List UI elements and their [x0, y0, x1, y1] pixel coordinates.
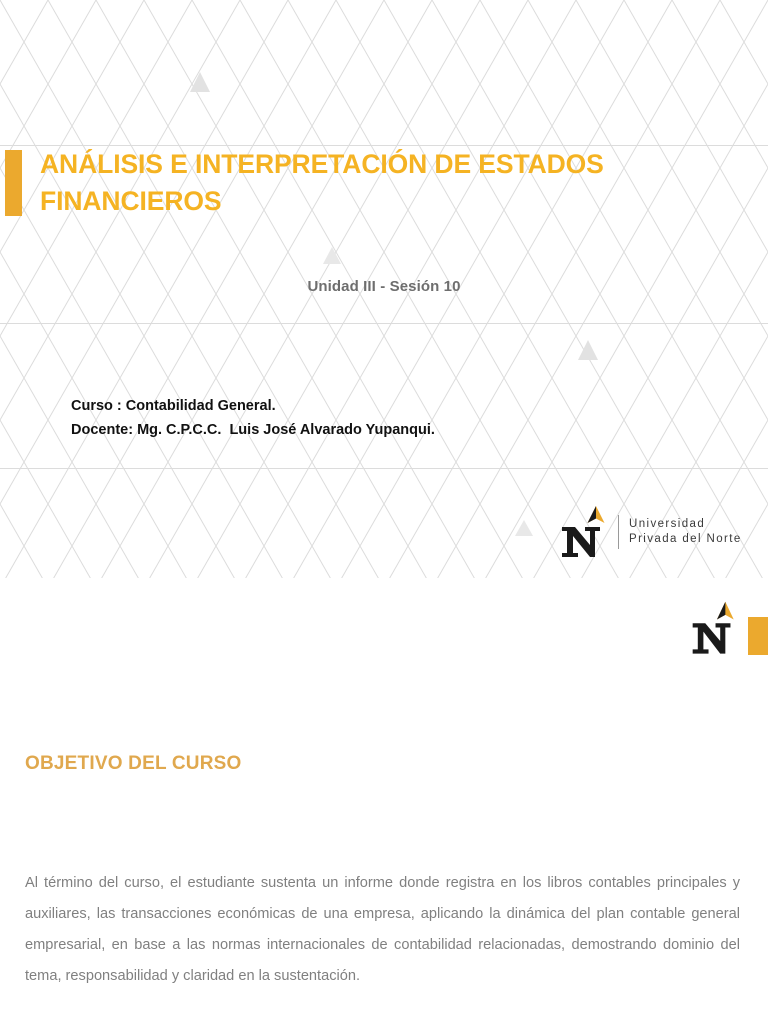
objective-body-text: Al término del curso, el estudiante sust…: [25, 868, 740, 992]
slide-objective-page: OBJETIVO DEL CURSO Al término del curso,…: [0, 578, 768, 1024]
objective-heading: OBJETIVO DEL CURSO: [25, 753, 242, 775]
upn-logo-wordmark: Universidad Privada del Norte: [629, 517, 742, 546]
upn-logo-full: Universidad Privada del Norte: [556, 503, 761, 561]
upn-logo-line-1: Universidad: [629, 517, 742, 532]
upn-logo-line-2: Privada del Norte: [629, 532, 742, 547]
title-accent-bar: [5, 150, 22, 216]
orange-accent-tab: [748, 617, 768, 655]
divider-line-middle: [0, 323, 768, 324]
course-info-block: Curso : Contabilidad General. Docente: M…: [71, 395, 631, 442]
slide-title-page: ANÁLISIS E INTERPRETACIÓN DE ESTADOS FIN…: [0, 0, 768, 578]
teacher-name-line: Docente: Mg. C.P.C.C. Luis José Alvarado…: [71, 419, 631, 443]
presentation-deck: ANÁLISIS E INTERPRETACIÓN DE ESTADOS FIN…: [0, 0, 768, 1024]
page-title: ANÁLISIS E INTERPRETACIÓN DE ESTADOS FIN…: [40, 146, 720, 219]
course-name-line: Curso : Contabilidad General.: [71, 395, 631, 419]
unit-session-subtitle: Unidad III - Sesión 10: [0, 278, 768, 295]
upn-n-monogram-icon: [688, 596, 744, 658]
divider-line-lower: [0, 468, 768, 469]
logo-divider: [618, 515, 619, 549]
upn-n-monogram-icon: [556, 503, 616, 561]
